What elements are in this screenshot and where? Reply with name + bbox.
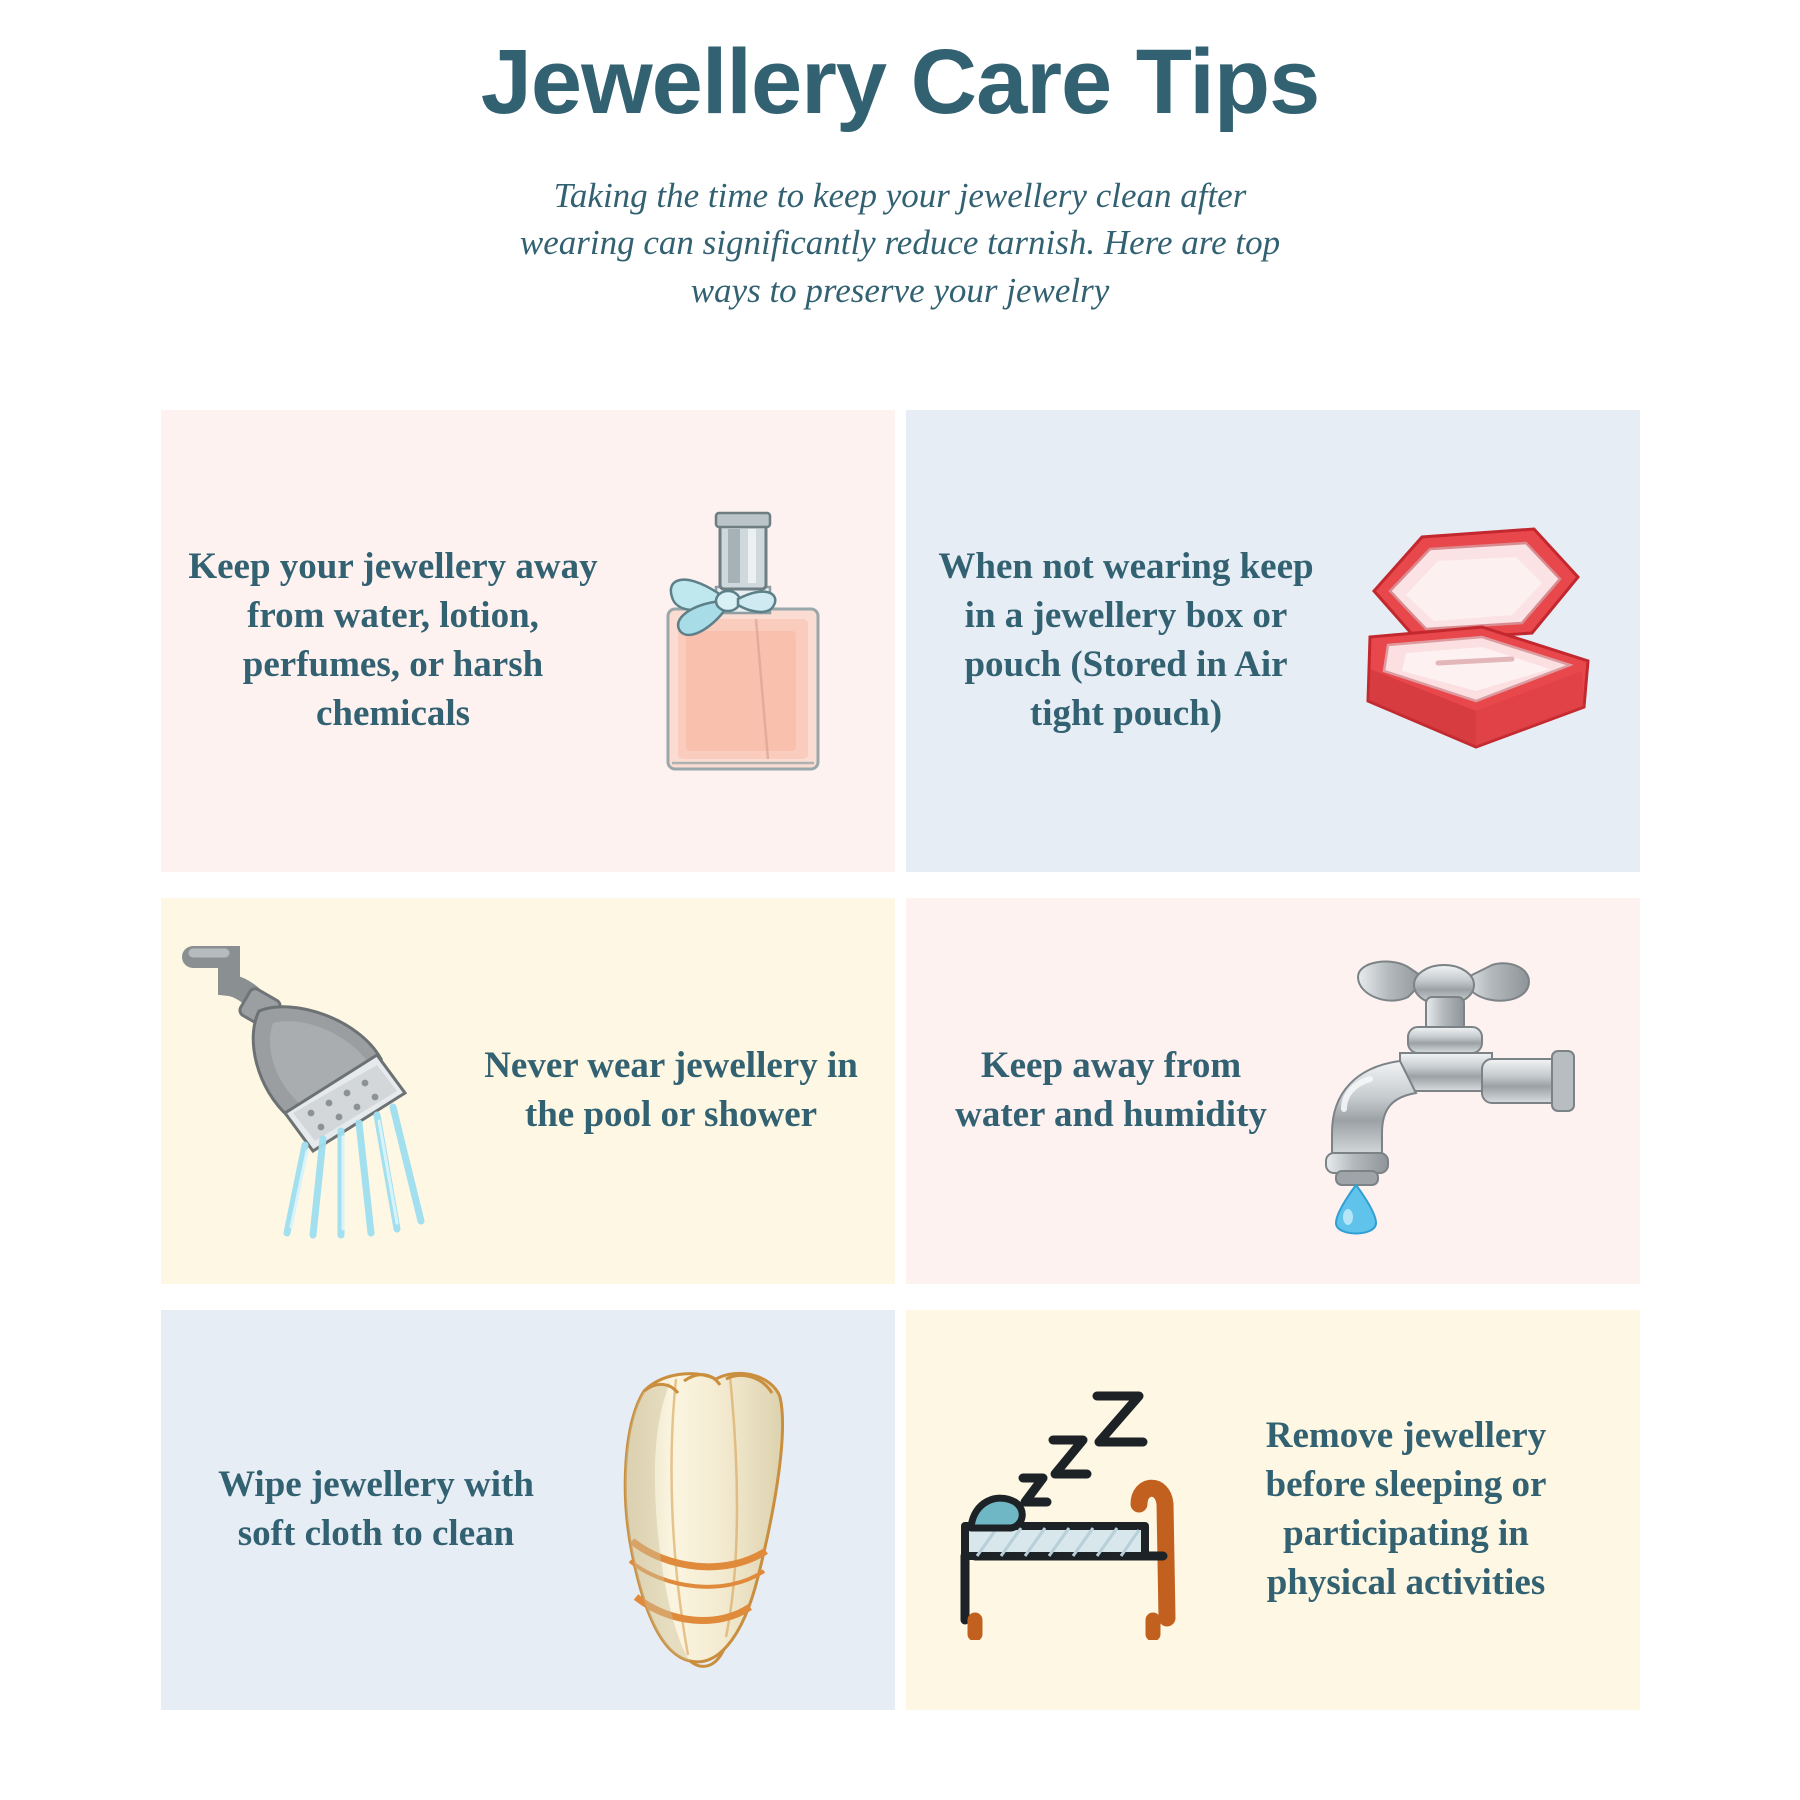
cloth-icon — [551, 1345, 851, 1675]
card-wipe-cloth: Wipe jewellery with soft cloth to clean — [161, 1310, 895, 1710]
card-sleeping: Remove jewellery before sleeping or part… — [906, 1310, 1640, 1710]
faucet-icon — [1276, 941, 1606, 1241]
infographic-page: Jewellery Care Tips Taking the time to k… — [0, 0, 1800, 1800]
shower-head-icon — [171, 941, 471, 1241]
card-storage: When not wearing keep in a jewellery box… — [906, 410, 1640, 872]
perfume-bottle-icon — [603, 501, 883, 781]
card-wipe-cloth-label: Wipe jewellery with soft cloth to clean — [201, 1461, 551, 1559]
card-sleeping-label: Remove jewellery before sleeping or part… — [1226, 1412, 1586, 1607]
page-title: Jewellery Care Tips — [0, 30, 1800, 136]
page-subtitle: Taking the time to keep your jewellery c… — [500, 172, 1300, 315]
card-humidity-label: Keep away from water and humidity — [946, 1042, 1276, 1140]
header: Jewellery Care Tips Taking the time to k… — [0, 0, 1800, 315]
card-humidity: Keep away from water and humidity — [906, 898, 1640, 1284]
card-chemicals-label: Keep your jewellery away from water, lot… — [183, 543, 603, 738]
card-storage-label: When not wearing keep in a jewellery box… — [936, 543, 1316, 738]
bed-sleeping-icon — [926, 1380, 1226, 1640]
card-pool-shower: Never wear jewellery in the pool or show… — [161, 898, 895, 1284]
card-chemicals: Keep your jewellery away from water, lot… — [161, 410, 895, 872]
jewellery-box-icon — [1316, 511, 1616, 771]
tips-grid: Keep your jewellery away from water, lot… — [161, 410, 1640, 1710]
card-pool-shower-label: Never wear jewellery in the pool or show… — [471, 1042, 871, 1140]
